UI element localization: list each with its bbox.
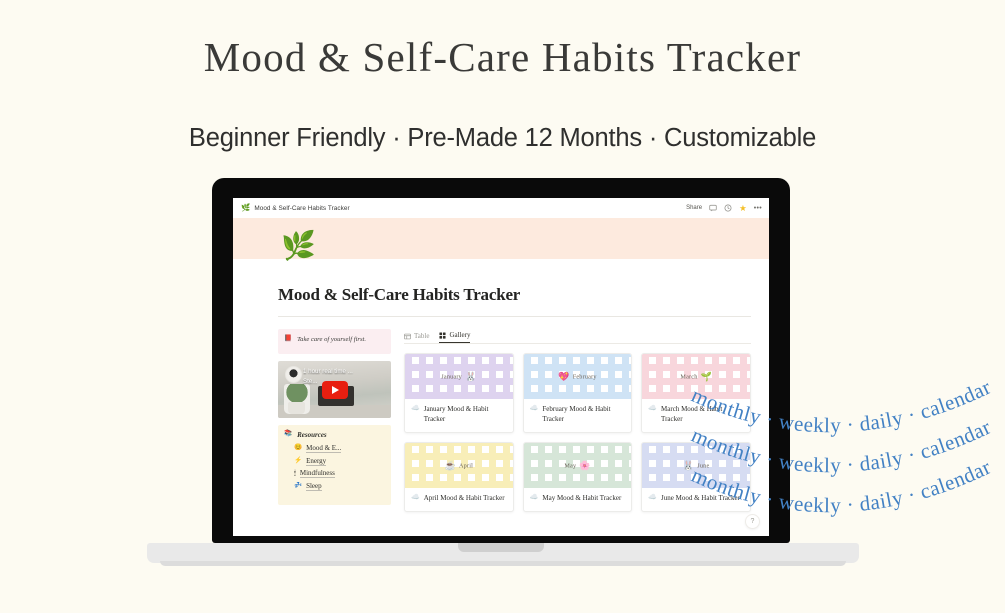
title-divider: [278, 316, 751, 317]
sidebar-column: 📕 Take care of yourself first. 1 hour re…: [278, 329, 391, 512]
more-options-icon[interactable]: •••: [754, 205, 762, 212]
hearts-icon: 💖: [558, 372, 569, 381]
cloud-icon: ☁️: [648, 404, 657, 413]
gallery-card[interactable]: 🐰 June ☁️ June Mood & Habit Tracker: [641, 442, 751, 512]
video-title: 1 hour real time ...: [303, 368, 387, 375]
cover-month: February: [573, 373, 597, 380]
page-subtitle: Beginner Friendly · Pre-Made 12 Months ·…: [0, 124, 1005, 153]
help-button[interactable]: ?: [745, 514, 760, 529]
tab-gallery-label: Gallery: [449, 331, 470, 339]
gallery-icon: [439, 332, 446, 339]
resource-link-label: Mood & E...: [306, 444, 341, 453]
card-body: ☁️ January Mood & Habit Tracker: [405, 399, 513, 432]
cover-month: March: [680, 373, 697, 380]
cover-month: June: [697, 462, 709, 469]
resource-link-label: Sleep: [306, 482, 322, 491]
page-columns: 📕 Take care of yourself first. 1 hour re…: [278, 329, 751, 512]
cover-month: May: [564, 462, 576, 469]
cloud-icon: ☁️: [411, 493, 420, 502]
cover-month: April: [459, 462, 473, 469]
clock-icon[interactable]: [724, 204, 732, 212]
quote-text: Take care of yourself first.: [297, 335, 366, 345]
bunny-icon: 🐰: [465, 372, 476, 381]
card-title: March Mood & Habit Tracker: [661, 404, 744, 424]
card-title: June Mood & Habit Tracker: [661, 493, 740, 503]
table-icon: [404, 333, 411, 340]
share-button[interactable]: Share: [686, 205, 702, 211]
tab-gallery[interactable]: Gallery: [439, 331, 470, 343]
card-body: ☁️ April Mood & Habit Tracker: [405, 488, 513, 511]
bolt-icon: ⚡: [294, 458, 302, 465]
teacup-icon: ☕: [445, 461, 456, 470]
laptop-base-shadow: [160, 561, 846, 566]
card-cover-label: 💖 February: [524, 372, 632, 381]
card-body: ☁️ February Mood & Habit Tracker: [524, 399, 632, 432]
page-body: Mood & Self-Care Habits Tracker 📕 Take c…: [233, 285, 769, 512]
card-cover-label: May 🌸: [524, 461, 632, 470]
breadcrumb-label: Mood & Self-Care Habits Tracker: [254, 205, 349, 212]
video-subtitle: Ste...: [303, 378, 317, 385]
card-cover: 🐰 June: [642, 443, 750, 488]
breadcrumb[interactable]: 🌿 Mood & Self-Care Habits Tracker: [241, 204, 350, 212]
books-icon: 📚: [284, 431, 292, 438]
card-title: February Mood & Habit Tracker: [542, 404, 625, 424]
list-item[interactable]: ⚡ Energy: [294, 457, 385, 466]
gallery-card[interactable]: May 🌸 ☁️ May Mood & Habit Tracker: [523, 442, 633, 512]
resources-title: Resources: [297, 431, 327, 439]
laptop-trackpad-notch: [458, 543, 544, 552]
card-title: April Mood & Habit Tracker: [424, 493, 505, 503]
gallery-card[interactable]: ☕ April ☁️ April Mood & Habit Tracker: [404, 442, 514, 512]
bunny-icon: 🐰: [683, 461, 694, 470]
gallery-card[interactable]: March 🌱 ☁️ March Mood & Habit Tracker: [641, 353, 751, 433]
poster-canvas: Mood & Self-Care Habits Tracker Beginner…: [0, 0, 1005, 613]
gallery-grid: January 🐰 ☁️ January Mood & Habit Tracke…: [404, 353, 751, 512]
resources-list: 😊 Mood & E... ⚡ Energy 🕯 Mindfulness: [294, 444, 385, 491]
resource-link-label: Mindfulness: [300, 469, 335, 478]
zzz-icon: 💤: [294, 483, 302, 490]
cloud-icon: ☁️: [648, 493, 657, 502]
card-body: ☁️ May Mood & Habit Tracker: [524, 488, 632, 511]
card-cover-label: March 🌱: [642, 372, 750, 381]
card-cover: March 🌱: [642, 354, 750, 399]
card-title: January Mood & Habit Tracker: [424, 404, 507, 424]
resources-header: 📚 Resources: [284, 431, 385, 439]
blossom-icon: 🌸: [579, 461, 590, 470]
list-item[interactable]: 💤 Sleep: [294, 482, 385, 491]
page-emoji-icon[interactable]: 🌿: [281, 228, 317, 264]
topbar-actions: Share ★ •••: [686, 204, 762, 213]
list-item[interactable]: 🕯 Mindfulness: [294, 469, 385, 478]
card-cover-label: January 🐰: [405, 372, 513, 381]
candle-icon: 🕯: [294, 471, 296, 478]
star-icon[interactable]: ★: [739, 204, 747, 213]
card-cover: 💖 February: [524, 354, 632, 399]
card-title: May Mood & Habit Tracker: [542, 493, 621, 503]
comment-icon[interactable]: [709, 204, 717, 212]
play-icon[interactable]: [322, 381, 348, 399]
cloud-icon: ☁️: [530, 493, 539, 502]
card-body: ☁️ March Mood & Habit Tracker: [642, 399, 750, 432]
notion-screen: 🌿 Mood & Self-Care Habits Tracker Share …: [233, 198, 769, 536]
cover-month: January: [441, 373, 462, 380]
resources-callout: 📚 Resources 😊 Mood & E... ⚡ Energy: [278, 425, 391, 505]
card-body: ☁️ June Mood & Habit Tracker: [642, 488, 750, 511]
card-cover-label: ☕ April: [405, 461, 513, 470]
notion-topbar: 🌿 Mood & Self-Care Habits Tracker Share …: [233, 198, 769, 218]
tabs-divider: [404, 343, 751, 344]
card-cover: May 🌸: [524, 443, 632, 488]
cloud-icon: ☁️: [530, 404, 539, 413]
smiley-icon: 😊: [294, 445, 302, 452]
herb-icon: 🌿: [241, 204, 250, 212]
sprout-icon: 🌱: [701, 372, 712, 381]
quote-callout: 📕 Take care of yourself first.: [278, 329, 391, 354]
tab-table-label: Table: [414, 332, 429, 340]
database-column: Table Gallery: [404, 329, 751, 512]
resource-link-label: Energy: [306, 457, 326, 466]
notion-page-title: Mood & Self-Care Habits Tracker: [278, 285, 751, 305]
book-icon: 📕: [284, 335, 292, 345]
video-embed[interactable]: 1 hour real time ... Ste...: [278, 361, 391, 418]
list-item[interactable]: 😊 Mood & E...: [294, 444, 385, 453]
tab-table[interactable]: Table: [404, 332, 429, 343]
video-channel-avatar: [285, 366, 302, 383]
page-title: Mood & Self-Care Habits Tracker: [0, 33, 1005, 81]
card-cover: ☕ April: [405, 443, 513, 488]
gallery-card[interactable]: 💖 February ☁️ February Mood & Habit Trac…: [523, 353, 633, 433]
card-cover-label: 🐰 June: [642, 461, 750, 470]
database-view-tabs: Table Gallery: [404, 329, 751, 343]
gallery-card[interactable]: January 🐰 ☁️ January Mood & Habit Tracke…: [404, 353, 514, 433]
video-plant-pot: [288, 402, 305, 414]
card-cover: January 🐰: [405, 354, 513, 399]
cloud-icon: ☁️: [411, 404, 420, 413]
